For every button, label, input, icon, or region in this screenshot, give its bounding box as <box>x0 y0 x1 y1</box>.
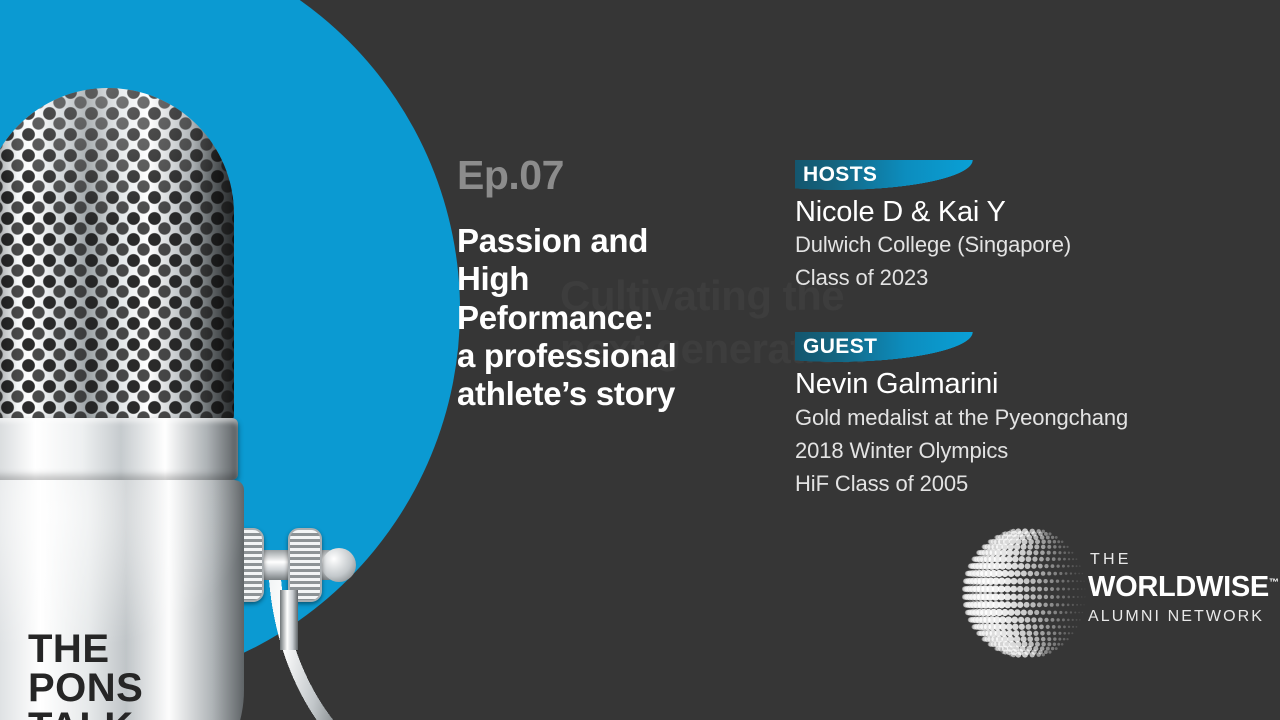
guest-details: Nevin Galmarini Gold medalist at the Pye… <box>795 368 1255 499</box>
episode-title-line: High <box>457 260 757 298</box>
episode-number: Ep.07 <box>457 155 757 196</box>
logo-alumni-network: ALUMNI NETWORK <box>1088 607 1253 626</box>
worldwise-logo: THE WORLDWISE™ ALUMNI NETWORK <box>960 525 1250 680</box>
hosts-details: Nicole D & Kai Y Dulwich College (Singap… <box>795 196 1255 294</box>
grille-dot-pattern-offset <box>0 88 234 423</box>
mic-brand-line: THE <box>28 630 208 669</box>
hosts-detail-line: Class of 2023 <box>795 261 1255 294</box>
logo-worldwise-text: WORLDWISE <box>1088 571 1269 603</box>
episode-title-line: athlete’s story <box>457 375 757 413</box>
episode-title-line: a professional <box>457 337 757 375</box>
episode-info: Ep.07 Passion and High Peformance: a pro… <box>457 155 757 413</box>
mic-chrome-band <box>0 418 238 480</box>
guest-name: Nevin Galmarini <box>795 368 1255 400</box>
hosts-detail-line: Dulwich College (Singapore) <box>795 228 1255 261</box>
guest-block: GUEST Nevin Galmarini Gold medalist at t… <box>795 332 1255 499</box>
episode-title: Passion and High Peformance: a professio… <box>457 222 757 413</box>
hosts-badge: HOSTS <box>795 160 973 190</box>
credits-panel: HOSTS Nicole D & Kai Y Dulwich College (… <box>795 160 1255 500</box>
hosts-block: HOSTS Nicole D & Kai Y Dulwich College (… <box>795 160 1255 294</box>
episode-title-line: Passion and <box>457 222 757 260</box>
podcast-cover-slide: Cultivating the next generation THE PONS… <box>0 0 1280 720</box>
guest-detail-line: Gold medalist at the Pyeongchang <box>795 401 1255 434</box>
mic-grille-head <box>0 88 234 423</box>
hosts-name: Nicole D & Kai Y <box>795 196 1255 228</box>
mic-shock-mount <box>230 528 350 602</box>
logo-worldwise: WORLDWISE™ <box>1088 571 1253 604</box>
logo-wordmark: THE WORLDWISE™ ALUMNI NETWORK <box>1088 551 1253 626</box>
mic-brand-line: TALK <box>28 708 208 720</box>
guest-badge-label: GUEST <box>803 332 973 362</box>
halftone-globe-icon <box>960 525 1096 661</box>
guest-detail-line: HiF Class of 2005 <box>795 467 1255 500</box>
guest-detail-line: 2018 Winter Olympics <box>795 434 1255 467</box>
mount-cap <box>322 548 356 582</box>
microphone-illustration: THE PONS TALK <box>0 88 262 720</box>
hosts-badge-label: HOSTS <box>803 160 973 190</box>
mic-brand-line: PONS <box>28 669 208 708</box>
guest-badge: GUEST <box>795 332 973 362</box>
logo-the: THE <box>1088 551 1253 569</box>
mount-stem <box>280 590 298 650</box>
mic-brand-text: THE PONS TALK <box>28 630 208 720</box>
episode-title-line: Peformance: <box>457 299 757 337</box>
trademark-icon: ™ <box>1269 577 1279 588</box>
